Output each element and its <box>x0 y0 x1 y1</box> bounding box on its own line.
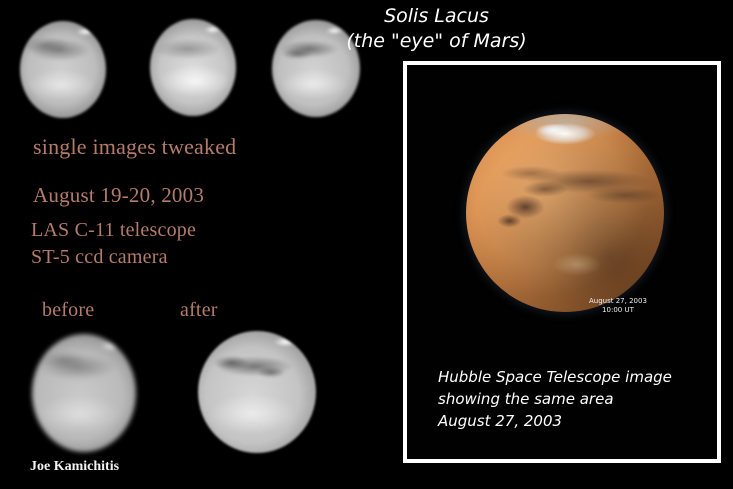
mars-image-after <box>198 331 316 453</box>
caption-telescope: LAS C-11 telescope <box>31 219 196 242</box>
label-before: before <box>42 299 94 322</box>
hubble-timestamp-time: 10:00 UT <box>589 306 647 315</box>
hubble-image-timestamp: August 27, 2003 10:00 UT <box>589 297 647 315</box>
hubble-mars-disc <box>466 114 664 312</box>
page-title-line2: (the "eye" of Mars) <box>0 30 733 52</box>
author-signature: Joe Kamichitis <box>30 459 119 475</box>
caption-observation-date: August 19-20, 2003 <box>33 183 204 208</box>
poster-canvas: single images tweaked August 19-20, 2003… <box>0 0 733 489</box>
mars-image-before <box>32 334 136 452</box>
page-title-line1: Solis Lacus <box>0 5 733 27</box>
hubble-caption-line2: showing the same area <box>438 388 672 410</box>
hubble-caption-line1: Hubble Space Telescope image <box>438 366 672 388</box>
label-after: after <box>180 299 218 322</box>
hubble-caption-line3: August 27, 2003 <box>438 410 672 432</box>
caption-single-images-tweaked: single images tweaked <box>33 134 236 160</box>
hubble-caption: Hubble Space Telescope image showing the… <box>438 366 672 432</box>
caption-camera: ST-5 ccd camera <box>31 246 168 269</box>
hubble-timestamp-date: August 27, 2003 <box>589 297 647 306</box>
